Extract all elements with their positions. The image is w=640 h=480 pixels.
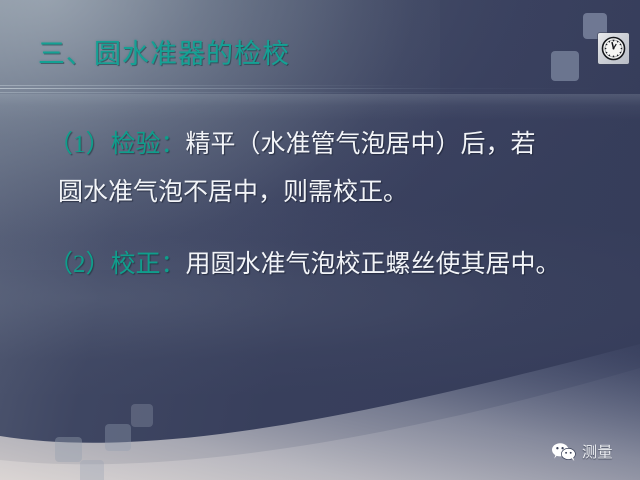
header-haze <box>0 94 640 120</box>
rounded-square-decoration <box>80 460 104 480</box>
watermark-label: 测量 <box>582 441 613 462</box>
page-title: 三、圆水准器的检校 <box>38 40 290 70</box>
title-divider-secondary <box>0 92 640 93</box>
body-line-3: （2）校正：用圆水准气泡校正螺丝使其居中。 <box>0 252 640 300</box>
body-line-1: （1）检验：精平（水准管气泡居中）后，若 <box>0 132 640 180</box>
wechat-icon <box>551 442 577 462</box>
rounded-square-decoration <box>551 51 579 81</box>
body-text-block: （1）检验：精平（水准管气泡居中）后，若 圆水准气泡不居中，则需校正。 （2）校… <box>0 132 640 300</box>
rounded-square-decoration <box>55 437 82 462</box>
rounded-square-decoration <box>105 424 131 451</box>
clock-icon <box>598 33 629 64</box>
title-divider <box>0 88 640 89</box>
slide-canvas: 三、圆水准器的检校 （1）检验：精平（水准管气泡居中）后，若 圆水准气泡不居中，… <box>0 0 640 480</box>
body-line-1-text: 精平（水准管气泡居中）后，若 <box>186 131 536 158</box>
body-line-1-label: （1）检验： <box>48 131 186 158</box>
body-line-2-text: 圆水准气泡不居中，则需校正。 <box>58 179 408 206</box>
watermark: 测量 <box>551 441 613 462</box>
title-divider-top <box>0 85 422 86</box>
body-line-3-label: （2）校正： <box>48 251 186 278</box>
body-line-3-text: 用圆水准气泡校正螺丝使其居中。 <box>186 251 561 278</box>
rounded-square-decoration <box>131 404 153 427</box>
body-line-2: 圆水准气泡不居中，则需校正。 <box>0 180 640 252</box>
bottom-curve-band <box>0 310 640 480</box>
